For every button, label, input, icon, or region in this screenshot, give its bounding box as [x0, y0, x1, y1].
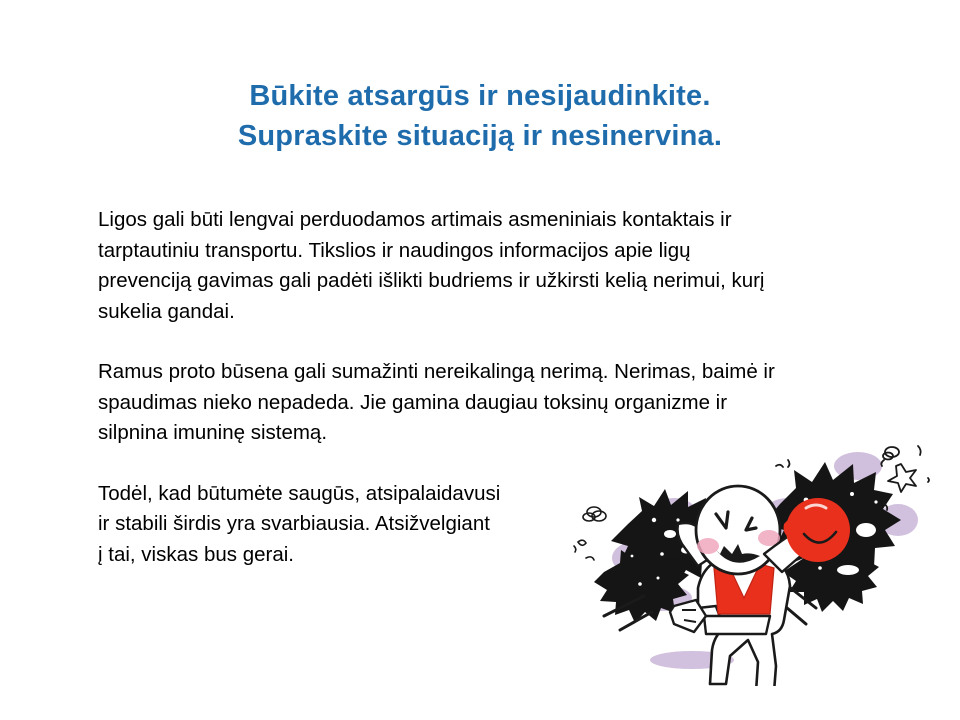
slide-canvas: Būkite atsargūs ir nesijaudinkite. Supra…: [0, 0, 960, 720]
paragraph-1-line-2: tarptautiniu transportu. Tikslios ir nau…: [98, 236, 898, 267]
paragraph-1-line-1: Ligos gali būti lengvai perduodamos arti…: [98, 205, 898, 236]
cheek-left: [697, 538, 719, 554]
paragraph-3-line-1: Todėl, kad būtumėte saugūs, atsipalaidav…: [98, 479, 568, 510]
paragraph-3-line-2: ir stabili širdis yra svarbiausia. Atsiž…: [98, 509, 568, 540]
paragraph-1-line-3: prevenciją gavimas gali padėti išlikti b…: [98, 266, 898, 297]
slide-title: Būkite atsargūs ir nesijaudinkite. Supra…: [0, 76, 960, 156]
paragraph-2-line-2: spaudimas nieko nepadeda. Jie gamina dau…: [98, 388, 898, 419]
boxer-illustration: [566, 438, 960, 686]
title-line-1: Būkite atsargūs ir nesijaudinkite.: [0, 76, 960, 116]
paragraph-3-line-3: į tai, viskas bus gerai.: [98, 540, 568, 571]
title-line-2: Supraskite situaciją ir nesinervina.: [0, 116, 960, 156]
paragraph-1-line-4: sukelia gandai.: [98, 297, 898, 328]
paragraph-2-line-1: Ramus proto būsena gali sumažinti nereik…: [98, 357, 898, 388]
paragraph-1: Ligos gali būti lengvai perduodamos arti…: [98, 205, 898, 327]
paragraph-2: Ramus proto būsena gali sumažinti nereik…: [98, 357, 898, 449]
star-icon: [888, 464, 916, 492]
